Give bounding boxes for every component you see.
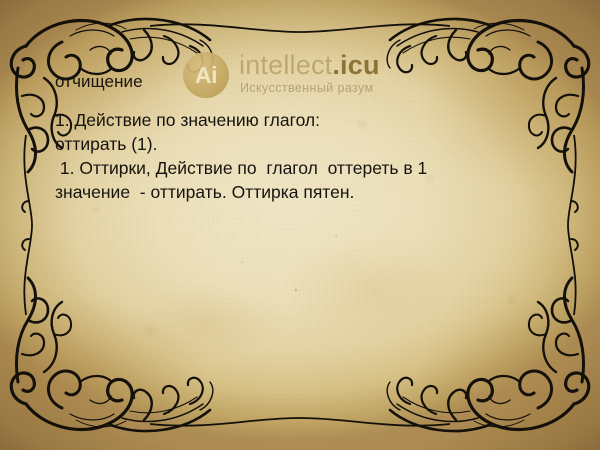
wavy-rule-icon <box>150 18 450 42</box>
watermark-subtitle: Искусственный разум <box>240 81 374 95</box>
watermark-title: intellect.icu <box>239 50 380 80</box>
ai-logo-text: Ai <box>195 64 217 87</box>
wavy-rule-icon <box>16 135 40 315</box>
parchment-card: Ai intellect.icu Искусственный разум отч… <box>0 0 600 450</box>
wavy-rule-icon <box>150 408 450 432</box>
watermark-title-dark: .icu <box>332 50 379 80</box>
wavy-rule-icon <box>560 135 584 315</box>
intellect-icu-watermark: Ai intellect.icu Искусственный разум <box>183 50 413 102</box>
ai-logo-icon: Ai <box>183 52 229 98</box>
definition-text: 1. Действие по значению глагол: оттирать… <box>55 108 535 204</box>
watermark-title-light: intellect <box>239 50 332 80</box>
headword: отчищение <box>55 72 143 92</box>
